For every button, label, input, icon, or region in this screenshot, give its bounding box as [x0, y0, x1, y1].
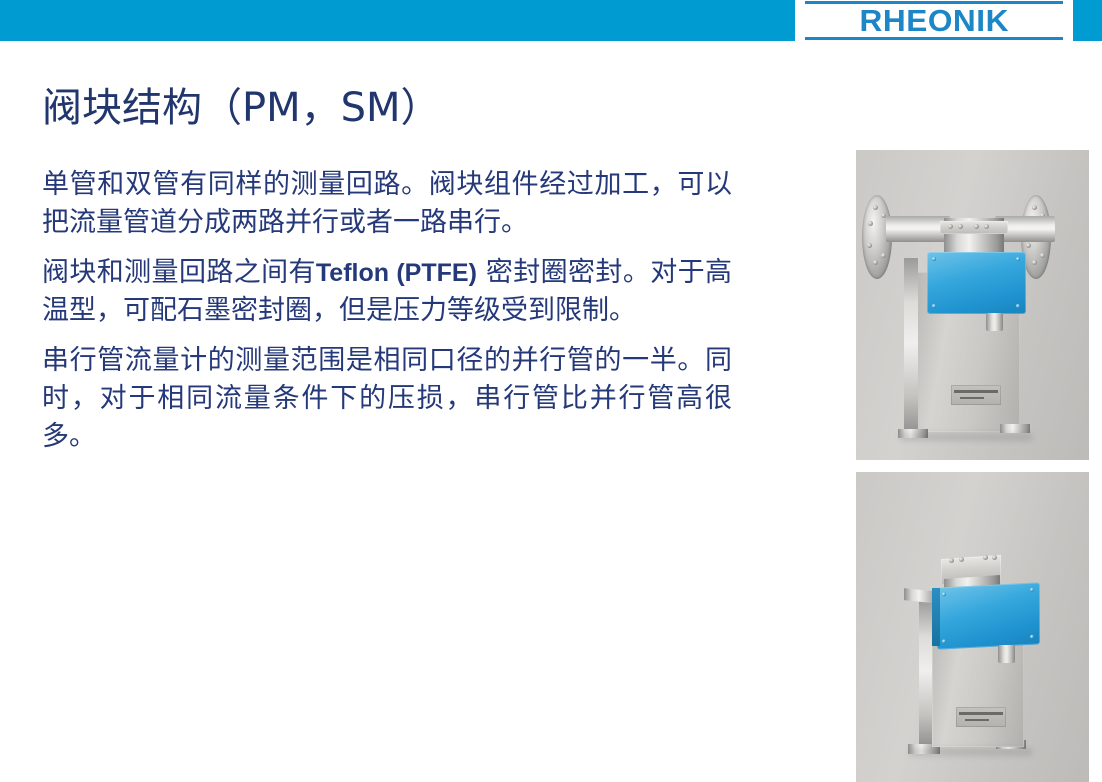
- paragraph-3: 串行管流量计的测量范围是相同口径的并行管的一半。同时，对于相同流量条件下的压损，…: [42, 342, 732, 456]
- paragraph-2-latin-term: Teflon (PTFE): [316, 259, 477, 287]
- header-bar: RHEONIK: [0, 0, 1102, 41]
- device-nameplate: [951, 385, 1001, 405]
- enclosure-side-face: [932, 588, 940, 646]
- body-text-column: 单管和双管有同样的测量回路。阀块组件经过加工，可以把流量管道分成两路并行或者一路…: [42, 166, 732, 468]
- page-title: 阀块结构（PM，SM）: [42, 83, 762, 133]
- product-photo-angled: [856, 472, 1089, 782]
- cable-gland: [986, 313, 1003, 331]
- cable-gland: [998, 645, 1015, 663]
- product-photo-front: [856, 150, 1089, 460]
- paragraph-2: 阀块和测量回路之间有Teflon (PTFE) 密封圈密封。对于高温型，可配石墨…: [42, 254, 732, 330]
- rheonik-logo: RHEONIK: [795, 0, 1073, 41]
- support-post-left: [904, 258, 918, 436]
- base-foot-right: [1000, 424, 1030, 433]
- support-post-left: [919, 600, 932, 748]
- device-nameplate: [956, 707, 1006, 727]
- paragraph-2-lead: 阀块和测量回路之间有: [42, 257, 316, 288]
- slide-body: 阀块结构（PM，SM） 单管和双管有同样的测量回路。阀块组件经过加工，可以把流量…: [0, 41, 1102, 778]
- paragraph-1: 单管和双管有同样的测量回路。阀块组件经过加工，可以把流量管道分成两路并行或者一路…: [42, 166, 732, 242]
- logo-wordmark: RHEONIK: [859, 5, 1008, 36]
- electronics-enclosure: [937, 582, 1040, 649]
- electronics-enclosure: [927, 252, 1026, 314]
